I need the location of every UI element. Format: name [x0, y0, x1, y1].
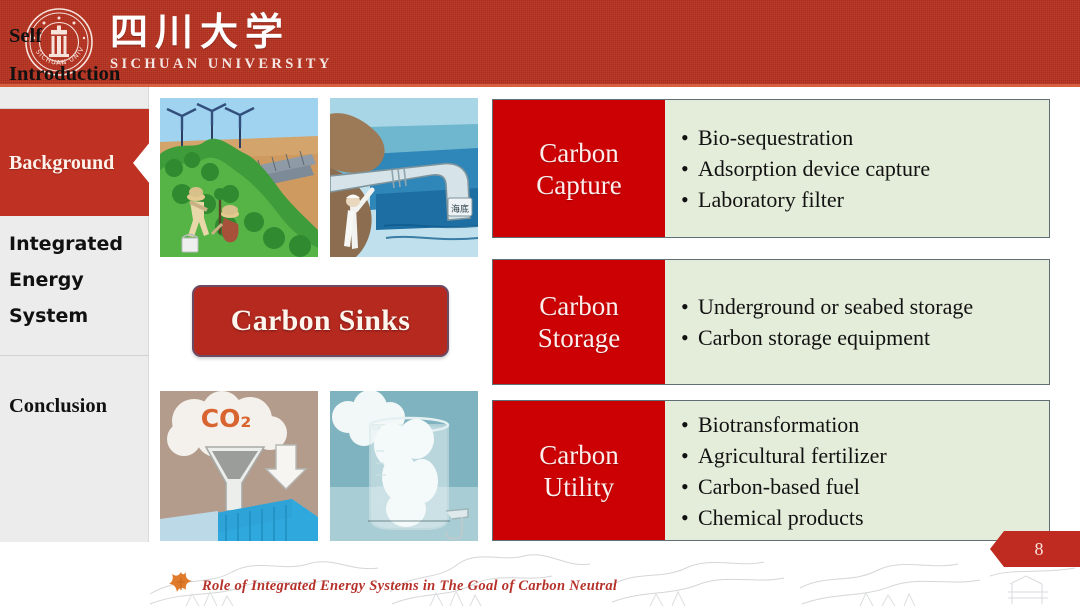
- card-title-line1: Carbon: [539, 137, 618, 169]
- slide-header: 1896 SICHUAN UNIVERSITY 四川大学 SICHUAN UNI…: [0, 0, 1080, 84]
- sidebar-item-label-2: Energy: [0, 266, 84, 295]
- card-body-carbon-utility: • Biotransformation • Agricultural ferti…: [665, 401, 1049, 540]
- slide: 1896 SICHUAN UNIVERSITY 四川大学 SICHUAN UNI…: [0, 0, 1080, 608]
- carbon-sinks-badge: Carbon Sinks: [192, 285, 449, 357]
- card-header-carbon-utility: Carbon Utility: [493, 401, 665, 540]
- card-title-line2: Utility: [544, 471, 615, 503]
- ink-wash-landscape-watermark: [0, 542, 1080, 608]
- page-number: 8: [1027, 539, 1044, 560]
- afforestation-renewables-illustration: [160, 98, 318, 257]
- bullet-icon: •: [681, 471, 698, 502]
- card-title-line1: Carbon: [539, 439, 618, 471]
- list-item-label: Underground or seabed storage: [698, 291, 973, 322]
- list-item-label: Bio-sequestration: [698, 122, 853, 153]
- sidebar-item-label-2: Introduction: [0, 61, 120, 87]
- list-item-label: Adsorption device capture: [698, 153, 930, 184]
- laboratory-beaker-vapor-illustration: [330, 391, 478, 541]
- svg-text:海底: 海底: [451, 203, 469, 215]
- sidebar-item-label: Background: [0, 150, 114, 176]
- list-item: • Biotransformation: [681, 409, 1049, 440]
- bullet-icon: •: [681, 184, 698, 215]
- card-carbon-capture: Carbon Capture • Bio-sequestration • Ads…: [492, 99, 1050, 238]
- chevron-left-icon: [133, 142, 150, 184]
- sidebar-item-self-introduction[interactable]: Self Introduction: [0, 14, 149, 96]
- card-body-carbon-storage: • Underground or seabed storage • Carbon…: [665, 260, 1049, 384]
- bullet-icon: •: [681, 440, 698, 471]
- card-title-line2: Capture: [536, 169, 621, 201]
- list-item: • Adsorption device capture: [681, 153, 1049, 184]
- bullet-icon: •: [681, 153, 698, 184]
- svg-text:CO₂: CO₂: [201, 404, 252, 433]
- co2-capture-funnel-illustration: CO₂: [160, 391, 318, 541]
- card-header-carbon-storage: Carbon Storage: [493, 260, 665, 384]
- bullet-icon: •: [681, 502, 698, 533]
- list-item-label: Carbon storage equipment: [698, 322, 930, 353]
- list-item-label: Carbon-based fuel: [698, 471, 860, 502]
- list-item: • Chemical products: [681, 502, 1049, 533]
- sidebar-item-background[interactable]: Background: [0, 109, 149, 216]
- list-item: • Carbon storage equipment: [681, 322, 1049, 353]
- bullet-icon: •: [681, 409, 698, 440]
- sidebar-item-label: Self: [0, 23, 42, 49]
- bullet-icon: •: [681, 291, 698, 322]
- card-title-line1: Carbon: [539, 290, 618, 322]
- sidebar-item-label: Integrated: [0, 230, 123, 259]
- page-number-badge: 8: [990, 531, 1080, 567]
- list-item-label: Biotransformation: [698, 409, 859, 440]
- sidebar-item-label-3: System: [0, 302, 88, 331]
- list-item: • Laboratory filter: [681, 184, 1049, 215]
- list-item-label: Agricultural fertilizer: [698, 440, 887, 471]
- sidebar-item-integrated-energy-system[interactable]: Integrated Energy System: [0, 226, 149, 334]
- list-item: • Agricultural fertilizer: [681, 440, 1049, 471]
- card-body-carbon-capture: • Bio-sequestration • Adsorption device …: [665, 100, 1049, 237]
- list-item-label: Laboratory filter: [698, 184, 844, 215]
- list-item: • Carbon-based fuel: [681, 471, 1049, 502]
- bullet-icon: •: [681, 322, 698, 353]
- footer-title: Role of Integrated Energy Systems in The…: [202, 578, 617, 595]
- bullet-icon: •: [681, 122, 698, 153]
- card-header-carbon-capture: Carbon Capture: [493, 100, 665, 237]
- carbon-sinks-label: Carbon Sinks: [231, 304, 411, 338]
- header-underline: [0, 84, 1080, 87]
- list-item-label: Chemical products: [698, 502, 864, 533]
- list-item: • Underground or seabed storage: [681, 291, 1049, 322]
- list-item: • Bio-sequestration: [681, 122, 1049, 153]
- card-carbon-storage: Carbon Storage • Underground or seabed s…: [492, 259, 1050, 385]
- ribbon-ornament-icon: [168, 570, 194, 594]
- card-title-line2: Storage: [538, 322, 620, 354]
- seabed-pipeline-illustration: 海底: [330, 98, 478, 257]
- sidebar-item-label: Conclusion: [0, 393, 107, 419]
- sidebar-item-conclusion[interactable]: Conclusion: [0, 356, 149, 456]
- card-carbon-utility: Carbon Utility • Biotransformation • Agr…: [492, 400, 1050, 541]
